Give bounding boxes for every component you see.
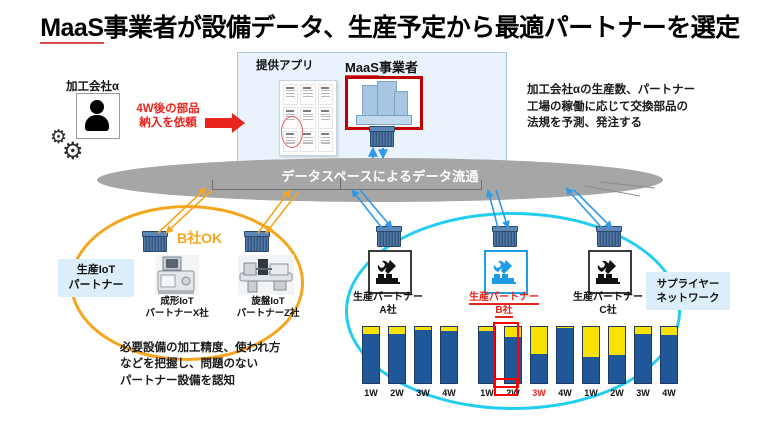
server-icon bbox=[493, 228, 517, 247]
provided-app-label: 提供アプリ bbox=[256, 57, 314, 73]
bar-utilized-segment bbox=[441, 331, 457, 383]
bar-utilized-segment bbox=[583, 357, 599, 383]
week-label: 4W bbox=[440, 388, 458, 398]
highlight-ellipse-icon bbox=[281, 116, 303, 148]
server-icon bbox=[377, 228, 401, 247]
capacity-bar bbox=[660, 326, 678, 384]
dataspace-bracket-tick bbox=[340, 178, 341, 189]
server-icon bbox=[597, 228, 621, 247]
person-head bbox=[90, 100, 104, 114]
machine-label: 成形IoTパートナーX社 bbox=[135, 296, 219, 321]
bar-utilized-segment bbox=[363, 334, 379, 383]
partner-label-a: 生産パートナーA社 bbox=[343, 291, 433, 317]
capacity-bar bbox=[582, 326, 600, 384]
week-label: 1W bbox=[582, 388, 600, 398]
capacity-bar bbox=[388, 326, 406, 384]
title-rest: 事業者が設備データ、生産予定から最適パートナーを選定 bbox=[104, 14, 740, 42]
capacity-bar bbox=[362, 326, 380, 384]
person-body bbox=[85, 115, 109, 131]
week-label: 3W bbox=[414, 388, 432, 398]
b-company-ok-text: B社OK bbox=[177, 228, 222, 248]
slide-canvas: MaaS事業者が設備データ、生産予定から最適パートナーを選定 提供アプリ Maa… bbox=[0, 0, 780, 428]
bar-utilized-segment bbox=[531, 354, 547, 383]
capacity-bar bbox=[440, 326, 458, 384]
processing-company-label: 加工会社α bbox=[66, 78, 119, 94]
week-label: 2W bbox=[608, 388, 626, 398]
office-building-icon bbox=[345, 76, 423, 130]
server-icon bbox=[143, 233, 167, 252]
page-title: MaaS事業者が設備データ、生産予定から最適パートナーを選定 bbox=[0, 8, 780, 44]
server-icon bbox=[245, 233, 269, 252]
bar-utilized-segment bbox=[609, 355, 625, 383]
bar-utilized-segment bbox=[415, 330, 431, 383]
week-label: 1W bbox=[362, 388, 380, 398]
factory-tools-icon bbox=[588, 250, 632, 294]
molding-machine-icon bbox=[155, 255, 199, 295]
iot-partner-note: 必要設備の加工精度、使われ方などを把握し、問題のないパートナー設備を認知 bbox=[120, 340, 350, 389]
highlight-box-week bbox=[494, 378, 518, 396]
capacity-bar bbox=[414, 326, 432, 384]
capacity-bar bbox=[530, 326, 548, 384]
title-prefix: MaaS bbox=[40, 14, 103, 44]
machine-label: 旋盤IoTパートナーZ社 bbox=[226, 296, 310, 321]
request-text: 4W後の部品納入を依頼 bbox=[120, 102, 216, 131]
gear-icon: ⚙ bbox=[62, 140, 84, 164]
partner-label-b: 生産パートナーB社 bbox=[459, 291, 549, 317]
week-label: 3W bbox=[634, 388, 652, 398]
supplier-network-badge: サプライヤーネットワーク bbox=[646, 272, 730, 310]
capacity-bar bbox=[634, 326, 652, 384]
iot-partner-badge: 生産IoTパートナー bbox=[58, 259, 134, 297]
partner-label-c: 生産パートナーC社 bbox=[563, 291, 653, 317]
dataspace-bracket bbox=[212, 180, 482, 190]
server-icon bbox=[370, 128, 394, 147]
bar-utilized-segment bbox=[661, 335, 677, 383]
factory-tools-icon bbox=[368, 250, 412, 294]
capacity-bar bbox=[608, 326, 626, 384]
factory-tools-icon bbox=[484, 250, 528, 294]
maas-operator-label: MaaS事業者 bbox=[345, 57, 418, 76]
week-label: 4W bbox=[660, 388, 678, 398]
bar-utilized-segment bbox=[557, 328, 573, 383]
week-label: 4W bbox=[556, 388, 574, 398]
lathe-machine-icon bbox=[238, 255, 294, 295]
bar-utilized-segment bbox=[389, 334, 405, 383]
bar-utilized-segment bbox=[635, 334, 651, 383]
week-label: 3W bbox=[530, 388, 548, 398]
capacity-bar bbox=[556, 326, 574, 384]
week-label: 2W bbox=[388, 388, 406, 398]
forecast-note: 加工会社αの生産数、パートナー工場の稼働に応じて交換部品の法規を予測、発注する bbox=[527, 82, 767, 132]
